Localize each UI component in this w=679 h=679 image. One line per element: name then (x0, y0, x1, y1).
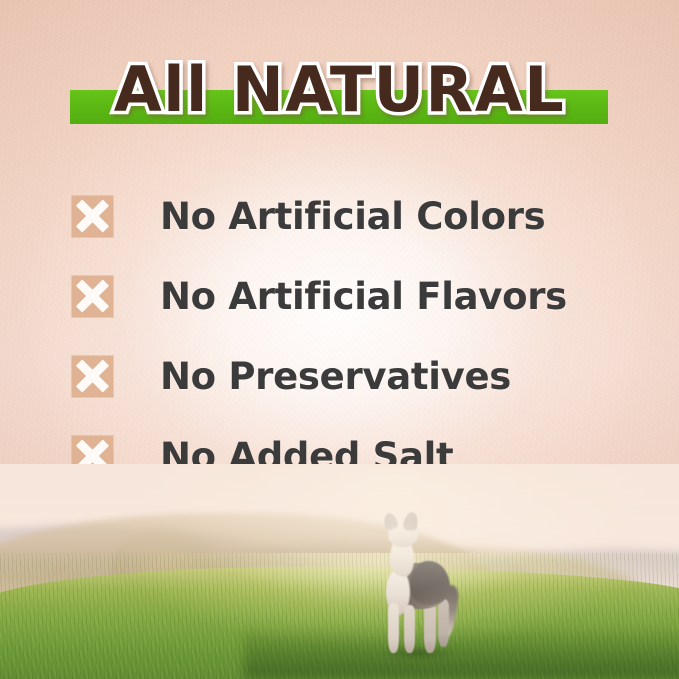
dog-hind-leg-right (438, 599, 449, 647)
dog-front-leg-right (404, 605, 415, 653)
claim-label: No Artificial Colors (160, 195, 545, 238)
x-mark-icon (72, 276, 113, 317)
x-mark-icon (72, 356, 113, 397)
border-collie-dog (366, 511, 462, 661)
headline-banner: All NATURAL (0, 52, 679, 138)
dog-front-leg-left (388, 603, 399, 653)
x-mark-icon (72, 196, 113, 237)
claim-item: No Artificial Colors (72, 176, 612, 256)
headline-text: All NATURAL (0, 52, 679, 128)
meadow-photo (0, 464, 679, 679)
dog-ear-right (402, 511, 420, 533)
claim-item: No Artificial Flavors (72, 256, 612, 336)
claim-label: No Preservatives (160, 355, 511, 398)
dog-back-marking (410, 561, 450, 605)
claim-label: No Artificial Flavors (160, 275, 567, 318)
product-feature-poster: All NATURAL No Artificial Colors No Arti… (0, 0, 679, 679)
dog-hind-leg-left (424, 603, 436, 653)
claims-list: No Artificial Colors No Artificial Flavo… (72, 176, 612, 496)
claim-item: No Preservatives (72, 336, 612, 416)
